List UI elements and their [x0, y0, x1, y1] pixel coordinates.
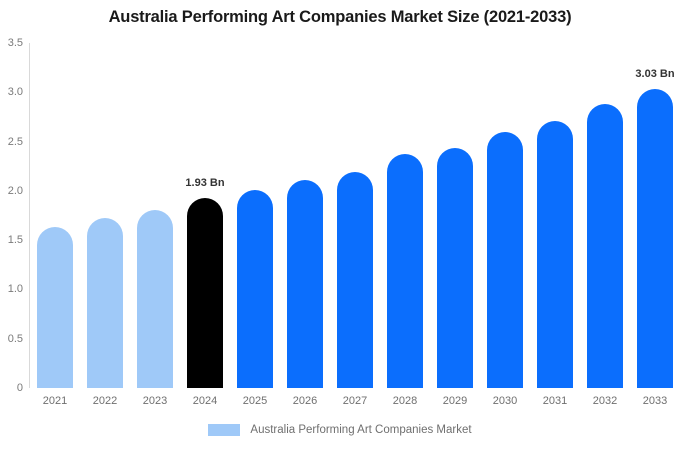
- bar-slot: [480, 43, 530, 388]
- bar[interactable]: [187, 198, 223, 388]
- bar-slot: [430, 43, 480, 388]
- bar-value-label: 3.03 Bn: [635, 68, 674, 80]
- bar[interactable]: [587, 104, 623, 388]
- bar-slot: [30, 43, 80, 388]
- bar-slot: [230, 43, 280, 388]
- bar-slot: [130, 43, 180, 388]
- bar-slot: 1.93 Bn: [180, 43, 230, 388]
- legend-swatch-icon: [208, 424, 240, 436]
- x-axis-tick-label: 2024: [180, 395, 230, 407]
- y-axis-tick-label: 0.5: [8, 333, 23, 345]
- bar-slot: [380, 43, 430, 388]
- y-axis-tick-label: 2.5: [8, 136, 23, 148]
- y-axis-tick-label: 1.0: [8, 283, 23, 295]
- x-axis-tick-label: 2031: [530, 395, 580, 407]
- bar-slot: 3.03 Bn: [630, 43, 680, 388]
- bar-slot: [330, 43, 380, 388]
- bar-value-label: 1.93 Bn: [185, 177, 224, 189]
- bar[interactable]: [287, 180, 323, 388]
- x-axis-tick-label: 2021: [30, 395, 80, 407]
- legend-label: Australia Performing Art Companies Marke…: [250, 424, 471, 436]
- chart-container: Australia Performing Art Companies Marke…: [0, 0, 680, 450]
- y-axis-tick-label: 0: [17, 382, 23, 394]
- bar[interactable]: [137, 210, 173, 388]
- bar[interactable]: [437, 148, 473, 388]
- x-axis-tick-label: 2025: [230, 395, 280, 407]
- bar[interactable]: [637, 89, 673, 388]
- bar-slot: [80, 43, 130, 388]
- chart-legend: Australia Performing Art Companies Marke…: [0, 424, 680, 436]
- x-axis-tick-label: 2030: [480, 395, 530, 407]
- bar[interactable]: [237, 190, 273, 388]
- bar[interactable]: [87, 218, 123, 388]
- bar[interactable]: [487, 132, 523, 388]
- x-axis-tick-label: 2026: [280, 395, 330, 407]
- y-axis-tick-label: 3.5: [8, 37, 23, 49]
- bar[interactable]: [387, 154, 423, 388]
- bar[interactable]: [37, 227, 73, 388]
- x-axis-tick-label: 2029: [430, 395, 480, 407]
- y-axis-tick-label: 2.0: [8, 185, 23, 197]
- x-axis-tick-label: 2033: [630, 395, 680, 407]
- bar[interactable]: [337, 172, 373, 388]
- y-axis-tick-label: 3.0: [8, 86, 23, 98]
- bar-slot: [280, 43, 330, 388]
- bar-slot: [580, 43, 630, 388]
- chart-title: Australia Performing Art Companies Marke…: [0, 8, 680, 27]
- x-axis-tick-label: 2027: [330, 395, 380, 407]
- x-axis: 2021202220232024202520262027202820292030…: [30, 389, 674, 413]
- bar[interactable]: [537, 121, 573, 388]
- x-axis-tick-label: 2028: [380, 395, 430, 407]
- x-axis-tick-label: 2023: [130, 395, 180, 407]
- y-axis-tick-label: 1.5: [8, 234, 23, 246]
- y-axis: 00.51.01.52.02.53.03.5: [0, 43, 29, 388]
- x-axis-tick-label: 2022: [80, 395, 130, 407]
- bar-slot: [530, 43, 580, 388]
- bars-layer: 1.93 Bn3.03 Bn: [30, 43, 674, 388]
- legend-item[interactable]: Australia Performing Art Companies Marke…: [208, 424, 471, 436]
- x-axis-tick-label: 2032: [580, 395, 630, 407]
